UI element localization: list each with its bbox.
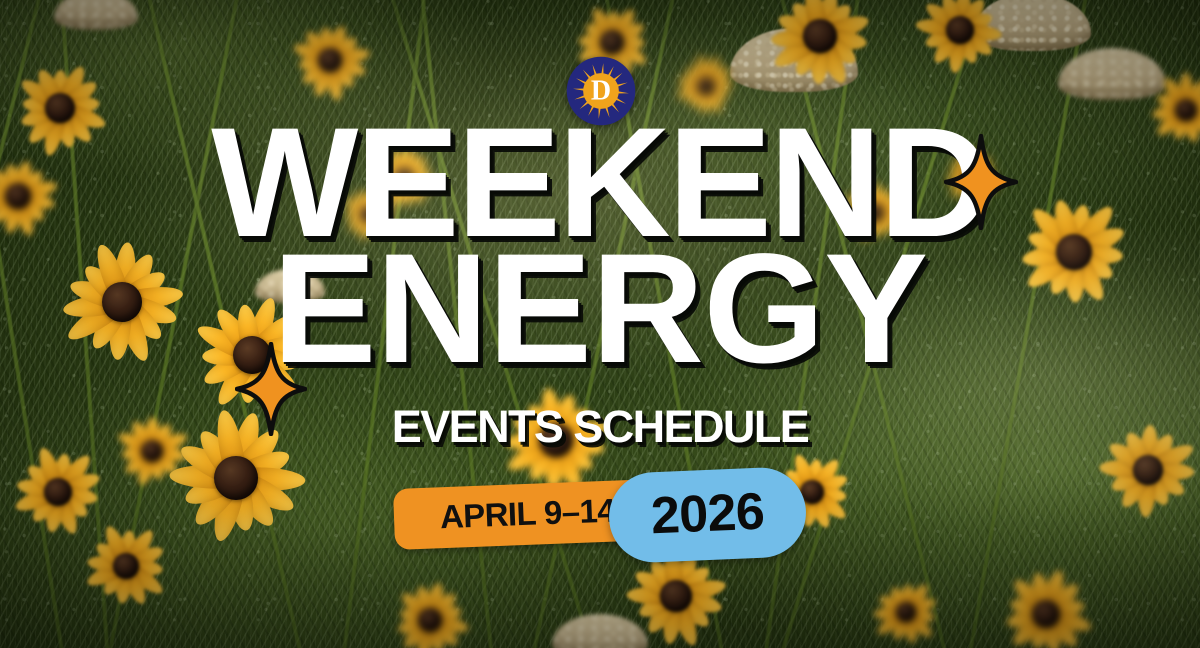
subtitle: EVENTS SCHEDULE (0, 404, 1200, 449)
headline-line-1: WEEKEND (0, 118, 1200, 250)
sunburst-d-monogram-logo[interactable]: D (566, 56, 636, 126)
svg-text:D: D (591, 76, 611, 107)
year-badge[interactable]: 2026 (607, 466, 808, 564)
headline-block: WEEKEND ENERGY (0, 118, 1200, 376)
poster-canvas: D WEEKEND ENERGY EVENTS SCHEDULE APRIL 9… (0, 0, 1200, 648)
four-point-sparkle-icon (944, 134, 1018, 230)
date-badge-group: APRIL 9–14 2026 (0, 470, 1200, 560)
headline-line-2: ENERGY (0, 244, 1200, 376)
poster-content: D WEEKEND ENERGY EVENTS SCHEDULE APRIL 9… (0, 0, 1200, 648)
